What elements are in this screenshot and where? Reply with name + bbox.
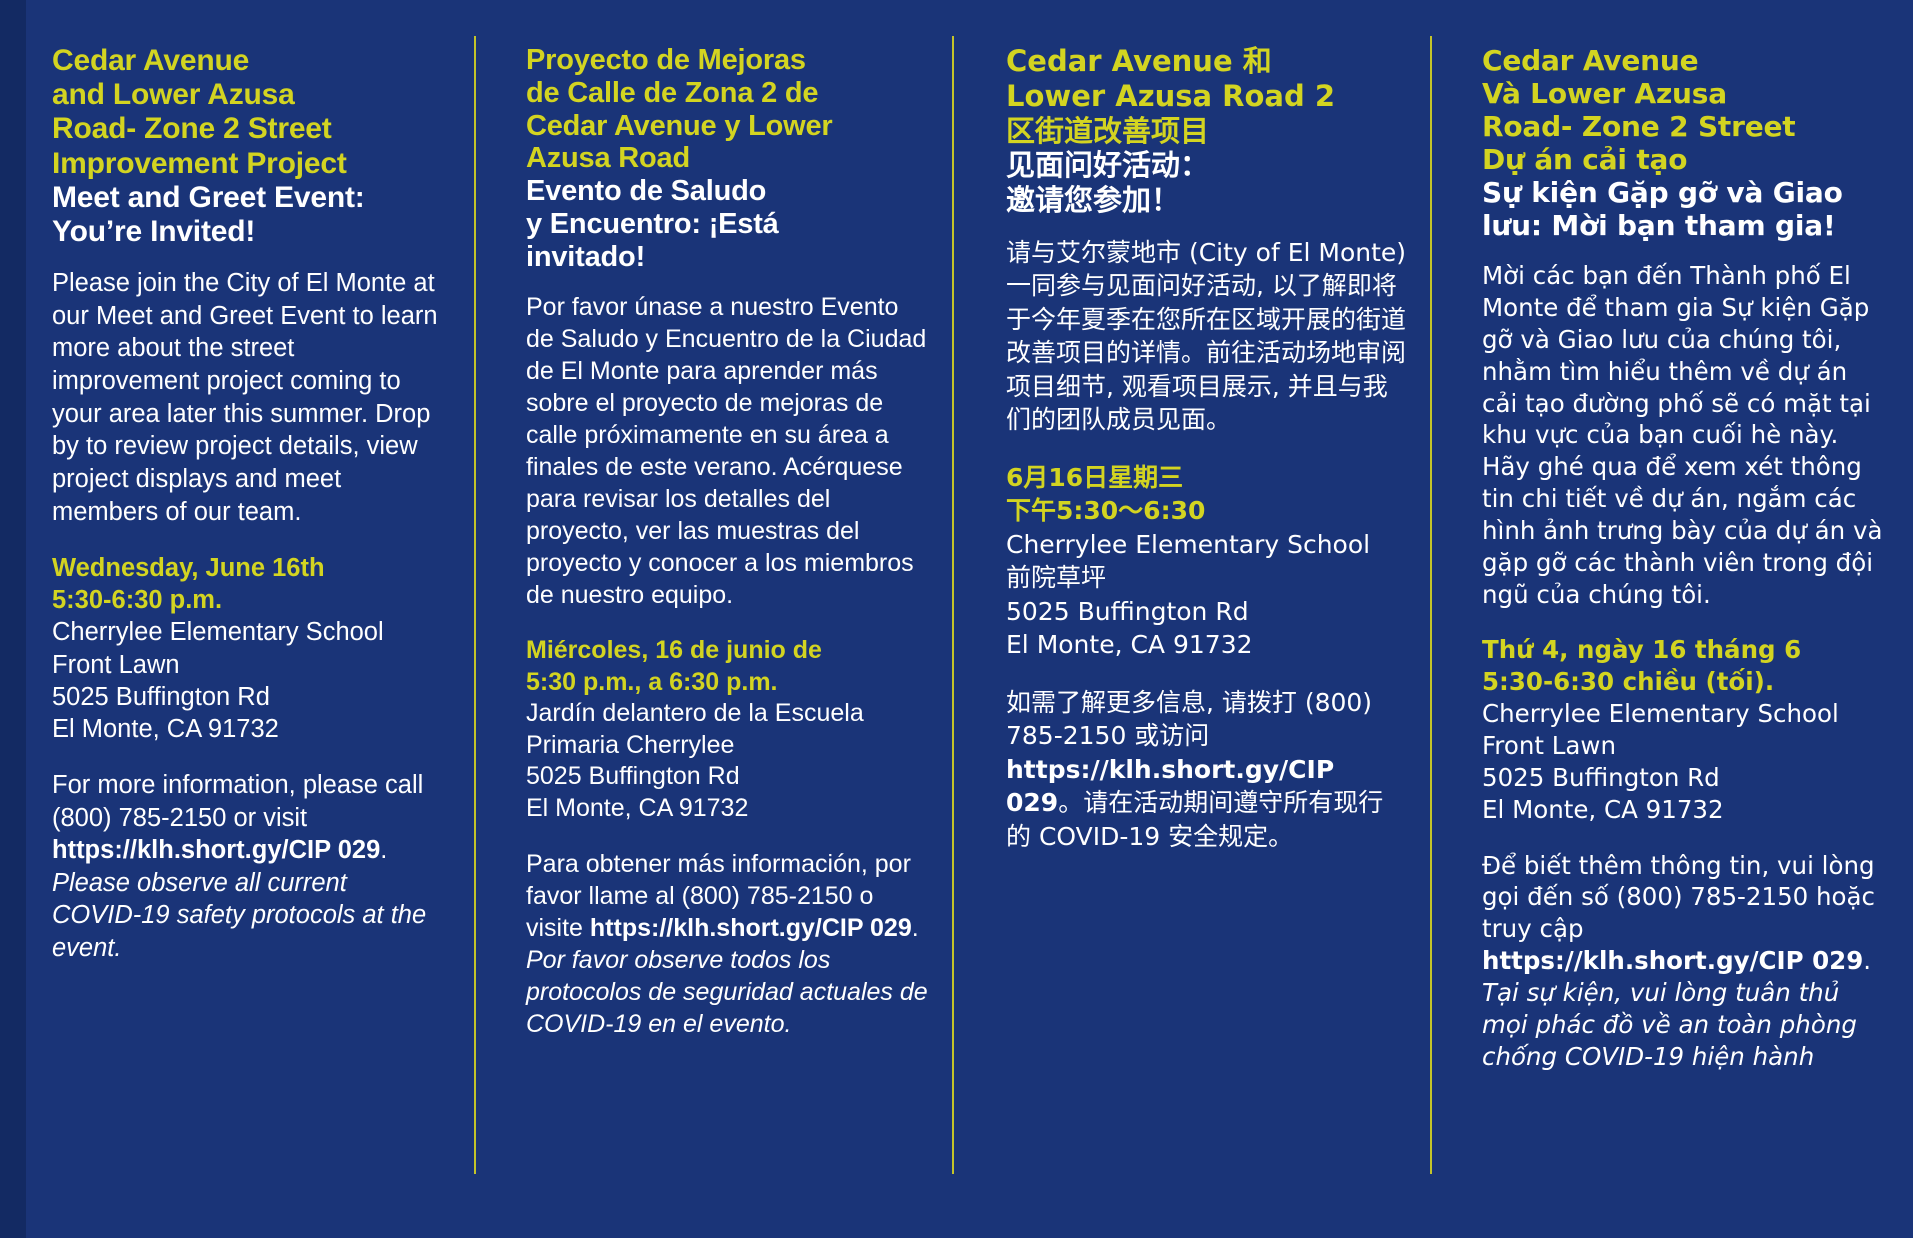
title-white-vietnamese: Sự kiện Gặp gỡ và Giao lưu: Mời bạn tham…	[1482, 176, 1883, 242]
body-paragraph-chinese: 请与艾尔蒙地市 (City of El Monte) 一同参与见面问好活动, 以…	[1006, 236, 1408, 437]
event-datetime-chinese: 6月16日星期三 下午5:30〜6:30	[1006, 461, 1408, 528]
column-english: Cedar Avenue and Lower Azusa Road- Zone …	[0, 0, 478, 1238]
event-venue-spanish: Jardín delantero de la Escuela Primaria …	[526, 698, 928, 824]
contact-url-spanish[interactable]: https://klh.short.gy/CIP 029	[590, 914, 912, 942]
title-white-english: Meet and Greet Event: You’re Invited!	[52, 181, 442, 249]
event-venue-chinese: Cherrylee Elementary School 前院草坪 5025 Bu…	[1006, 528, 1408, 662]
column-chinese: Cedar Avenue 和 Lower Azusa Road 2 区街道改善项…	[956, 0, 1434, 1238]
column-divider-1	[474, 36, 476, 1174]
event-datetime-spanish: Miércoles, 16 de junio de 5:30 p.m., a 6…	[526, 635, 928, 698]
contact-suffix-vietnamese: .	[1863, 946, 1871, 975]
contact-url-vietnamese[interactable]: https://klh.short.gy/CIP 029	[1482, 946, 1863, 975]
column-divider-3	[1430, 36, 1432, 1174]
contact-paragraph-spanish: Para obtener más información, por favor …	[526, 848, 928, 1040]
title-white-spanish: Evento de Saludo y Encuentro: ¡Está invi…	[526, 175, 928, 273]
title-white-chinese: 见面问好活动： 邀请您参加！	[1006, 148, 1408, 218]
title-yellow-chinese: Cedar Avenue 和 Lower Azusa Road 2 区街道改善项…	[1006, 44, 1408, 148]
title-yellow-english: Cedar Avenue and Lower Azusa Road- Zone …	[52, 44, 442, 181]
contact-suffix-spanish: .	[912, 914, 919, 942]
contact-prefix-chinese: 如需了解更多信息, 请拨打 (800) 785-2150 或访问	[1006, 688, 1372, 751]
event-datetime-vietnamese: Thứ 4, ngày 16 tháng 6 5:30-6:30 chiều (…	[1482, 634, 1883, 698]
body-paragraph-vietnamese: Mời các bạn đến Thành phố El Monte để th…	[1482, 260, 1883, 610]
column-vietnamese: Cedar Avenue Và Lower Azusa Road- Zone 2…	[1434, 0, 1913, 1238]
covid-note-english: Please observe all current COVID-19 safe…	[52, 869, 426, 962]
body-paragraph-spanish: Por favor únase a nuestro Evento de Salu…	[526, 291, 928, 611]
column-divider-2	[952, 36, 954, 1174]
contact-suffix-english: .	[380, 836, 387, 864]
title-yellow-vietnamese: Cedar Avenue Và Lower Azusa Road- Zone 2…	[1482, 44, 1883, 176]
event-datetime-english: Wednesday, June 16th 5:30-6:30 p.m.	[52, 552, 442, 616]
contact-paragraph-vietnamese: Để biết thêm thông tin, vui lòng gọi đến…	[1482, 850, 1883, 1073]
column-spanish: Proyecto de Mejoras de Calle de Zona 2 d…	[478, 0, 956, 1238]
contact-paragraph-chinese: 如需了解更多信息, 请拨打 (800) 785-2150 或访问 https:/…	[1006, 686, 1408, 854]
contact-url-english[interactable]: https://klh.short.gy/CIP 029	[52, 836, 380, 864]
title-yellow-spanish: Proyecto de Mejoras de Calle de Zona 2 d…	[526, 44, 928, 175]
contact-suffix-chinese: 。	[1058, 788, 1083, 817]
body-paragraph-english: Please join the City of El Monte at our …	[52, 267, 442, 528]
flyer-poster: Cedar Avenue and Lower Azusa Road- Zone …	[0, 0, 1913, 1238]
covid-note-vietnamese: Tại sự kiện, vui lòng tuân thủ mọi phác …	[1482, 978, 1857, 1071]
event-venue-vietnamese: Cherrylee Elementary School Front Lawn 5…	[1482, 698, 1883, 825]
contact-paragraph-english: For more information, please call (800) …	[52, 769, 442, 965]
event-venue-english: Cherrylee Elementary School Front Lawn 5…	[52, 616, 442, 745]
covid-note-spanish: Por favor observe todos los protocolos d…	[526, 946, 928, 1038]
contact-prefix-english: For more information, please call (800) …	[52, 771, 423, 832]
left-edge-strip	[0, 0, 26, 1238]
contact-prefix-vietnamese: Để biết thêm thông tin, vui lòng gọi đến…	[1482, 851, 1875, 944]
